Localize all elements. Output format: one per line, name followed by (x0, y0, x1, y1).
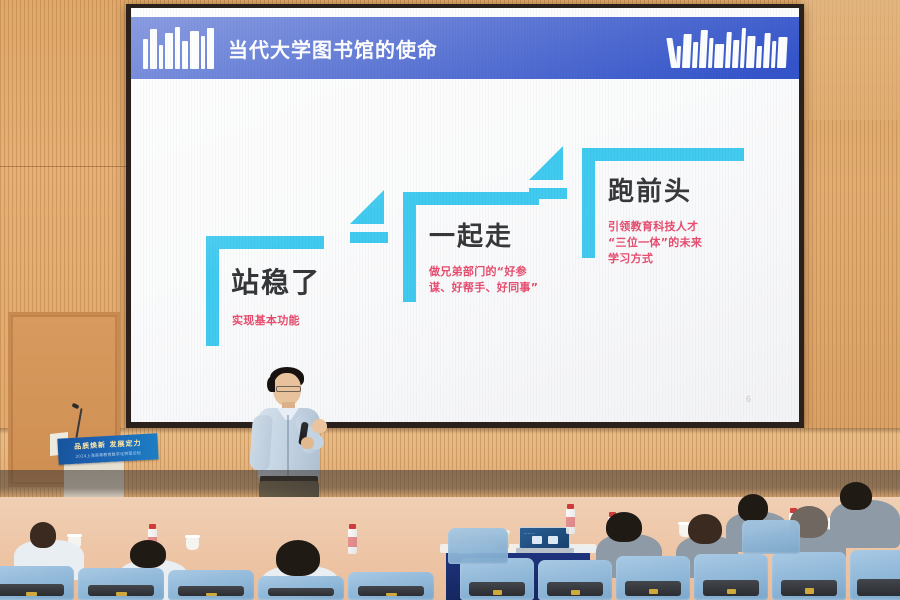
conference-hall-scene: 当代大学图书馆的使命 (0, 0, 900, 600)
wall-seam (0, 166, 136, 167)
seat[interactable] (850, 550, 900, 600)
step-1-subtitle: 实现基本功能 (232, 313, 362, 329)
seat[interactable] (258, 576, 344, 600)
seat[interactable] (448, 528, 508, 564)
seat[interactable] (772, 552, 846, 600)
audience-head (276, 540, 320, 576)
staircase-diagram: 站稳了 实现基本功能 一起走 做兄弟部门的“好参 谋、好帮手、好同事” (131, 8, 799, 422)
step-2-subtitle: 做兄弟部门的“好参 谋、好帮手、好同事” (429, 264, 569, 296)
presenter-hair-side (267, 377, 275, 392)
projection-screen[interactable]: 当代大学图书馆的使命 (131, 8, 799, 422)
seat[interactable] (538, 560, 612, 600)
laptop-base (516, 548, 574, 553)
seat[interactable] (742, 520, 800, 554)
audience-head (130, 540, 166, 568)
screen-shadow (0, 428, 900, 434)
presenter-left-arm (249, 414, 273, 471)
presenter-left-hand (312, 419, 327, 433)
step-2-title: 一起走 (429, 216, 513, 253)
water-bottle (566, 508, 575, 534)
step-1-title: 站稳了 (231, 261, 321, 301)
audience-head (30, 522, 56, 548)
presenter-placket (287, 415, 289, 477)
audience-head (840, 482, 872, 510)
podium-banner-line2: 2024上海高等教育数字化转型论坛 (75, 450, 141, 460)
paper-cup (186, 537, 199, 550)
seat[interactable] (78, 568, 164, 600)
seat[interactable] (616, 556, 690, 600)
water-bottle (348, 528, 357, 554)
seat[interactable] (348, 572, 434, 600)
audience-head (606, 512, 642, 542)
seat[interactable] (0, 566, 74, 600)
seat[interactable] (460, 558, 534, 600)
presenter-right-hand (301, 437, 314, 449)
step-3-title: 跑前头 (608, 171, 692, 208)
seat[interactable] (694, 554, 768, 600)
podium-banner: 品质焕新 发展定力 2024上海高等教育数字化转型论坛 (57, 433, 158, 465)
right-wall-highlight (800, 0, 900, 120)
slide-page-number: 6 (746, 394, 751, 404)
glasses-icon (276, 386, 301, 392)
laptop[interactable]: — — — (519, 527, 570, 549)
rear-shadow-band (0, 470, 900, 500)
audience-head (738, 494, 768, 522)
seat[interactable] (168, 570, 254, 600)
step-3-subtitle: 引领教育科技人才 “三位一体”的未来 学习方式 (608, 219, 758, 267)
audience-head (688, 514, 722, 544)
